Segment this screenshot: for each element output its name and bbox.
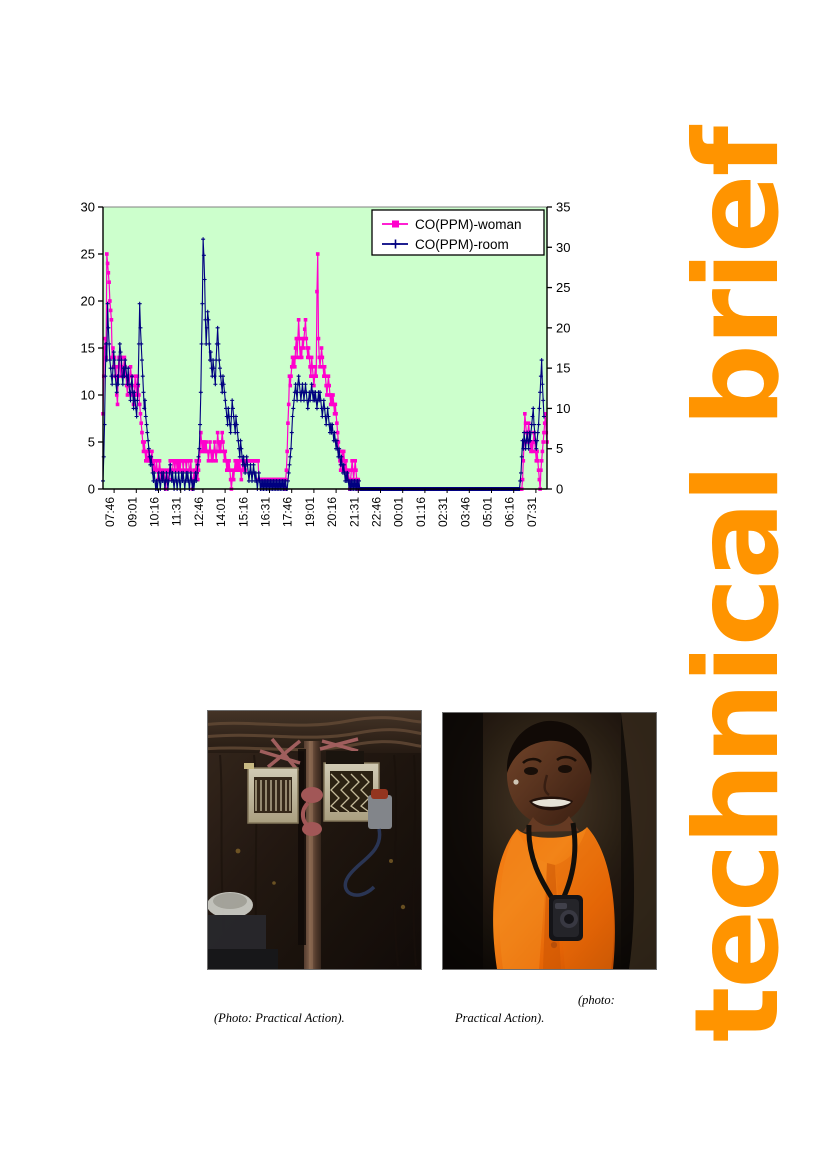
photo-indoor-monitoring-equipment — [207, 710, 422, 970]
x-tick-label: 00:01 — [392, 497, 406, 527]
caption-photo-left: (Photo: Practical Action). — [214, 1011, 345, 1026]
co-concentration-chart: 05101520253005101520253035 07:4609:0110:… — [60, 190, 580, 550]
x-tick-label: 09:01 — [125, 497, 139, 527]
caption-photo-right-line1: (photo: — [578, 993, 615, 1008]
y-right-tick-label: 10 — [556, 401, 570, 416]
legend-label: CO(PPM)-woman — [415, 217, 522, 232]
chart-plot-area: 05101520253005101520253035 07:4609:0110:… — [60, 190, 580, 550]
x-tick-label: 19:01 — [303, 497, 317, 527]
x-tick-label: 17:46 — [281, 497, 295, 527]
x-tick-label: 07:31 — [525, 497, 539, 527]
y-right-tick-label: 15 — [556, 361, 570, 376]
y-right-tick-label: 20 — [556, 320, 570, 335]
y-right-tick-label: 25 — [556, 280, 570, 295]
x-tick-label: 02:31 — [436, 497, 450, 527]
y-right-tick-label: 35 — [556, 200, 570, 215]
y-left-tick-label: 15 — [81, 341, 95, 356]
y-right-tick-label: 5 — [556, 441, 563, 456]
x-tick-label: 14:01 — [214, 497, 228, 527]
x-tick-label: 15:16 — [236, 497, 250, 527]
y-left-tick-label: 20 — [81, 294, 95, 309]
y-left-tick-label: 5 — [88, 435, 95, 450]
x-tick-label: 06:16 — [503, 497, 517, 527]
x-tick-label: 05:01 — [481, 497, 495, 527]
y-left-tick-label: 30 — [81, 200, 95, 215]
photo-woman-wearing-personal-monitor — [442, 712, 657, 970]
y-left-tick-label: 25 — [81, 247, 95, 262]
x-tick-label: 11:31 — [170, 497, 184, 526]
x-tick-label: 21:31 — [347, 497, 361, 527]
y-left-tick-label: 10 — [81, 388, 95, 403]
x-tick-label: 01:16 — [414, 497, 428, 527]
x-tick-label: 03:46 — [458, 497, 472, 527]
x-tick-label: 22:46 — [370, 497, 384, 527]
y-right-tick-label: 0 — [556, 482, 563, 497]
y-left-tick-label: 0 — [88, 482, 95, 497]
x-tick-label: 07:46 — [103, 497, 117, 527]
x-tick-labels: 07:4609:0110:1611:3112:4614:0115:1616:31… — [103, 497, 539, 527]
y-right-tick-label: 30 — [556, 240, 570, 255]
side-title-banner: technical brief — [648, 0, 827, 1169]
x-tick-label: 10:16 — [148, 497, 162, 527]
legend-label: CO(PPM)-room — [415, 237, 509, 252]
x-tick-label: 20:16 — [325, 497, 339, 527]
chart-legend: CO(PPM)-womanCO(PPM)-room — [372, 210, 544, 255]
caption-photo-right-line2: Practical Action). — [455, 1011, 544, 1026]
x-tick-label: 16:31 — [259, 497, 273, 527]
page-title: technical brief — [680, 127, 796, 1041]
x-tick-label: 12:46 — [192, 497, 206, 527]
